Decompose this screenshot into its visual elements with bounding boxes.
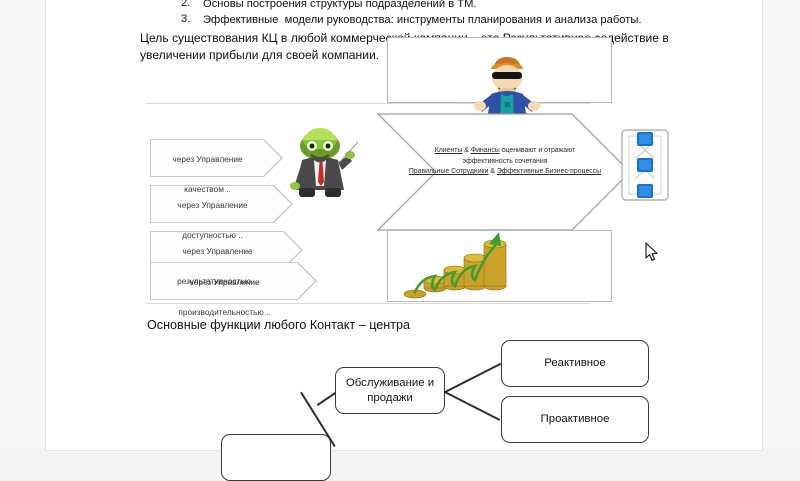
flow-box-line-1: Проактивное [541, 412, 610, 427]
section-heading: Основные функции любого Контакт – центра [147, 317, 410, 334]
list-item-2-text: Основы построения структуры подразделени… [203, 0, 477, 12]
page-gutter-right [762, 0, 800, 450]
tag-arrow-tip-fill [263, 140, 281, 176]
connector-from-left [317, 392, 336, 406]
caption-rest-1: оценивают и отражают [502, 147, 576, 154]
document-page: 2. Основы построения структуры подраздел… [46, 0, 762, 450]
flow-box-partial-bottom[interactable] [221, 434, 331, 481]
caption-finance: Финансы [471, 147, 500, 154]
flow-box-line-1: Реактивное [544, 356, 605, 371]
gold-coins-growth-chart [401, 228, 511, 302]
caption-line-2: эффективность сочетания [390, 157, 620, 168]
paragraph-line-2: увеличении прибыли для своей компании. [140, 47, 379, 64]
list-item-3-text: Эффективные модели руководства: инструме… [203, 13, 642, 28]
tag-availability-management[interactable]: через Управление доступностью .. [150, 185, 274, 223]
tag-quality-management[interactable]: через Управление качеством .. [150, 139, 264, 177]
connector-to-proactive [444, 391, 500, 421]
green-boss-character [286, 124, 358, 200]
connector-to-reactive [445, 363, 501, 393]
tag-line-1: через Управление [151, 193, 274, 212]
caption-right-people: Правильные Сотрудники [409, 168, 489, 175]
tag-line-2: производительностью .. [151, 300, 298, 319]
page-edge-right-line [762, 0, 763, 450]
flow-box-reactive[interactable]: Реактивное [501, 340, 649, 387]
caption-line-1: Клиенты & Финансы оценивают и отражают [390, 146, 620, 157]
center-caption: Клиенты & Финансы оценивают и отражают э… [390, 146, 620, 178]
tag-line-1: через Управление [151, 147, 264, 166]
mouse-pointer-icon [645, 242, 659, 262]
flow-box-line-2: продажи [367, 392, 413, 404]
list-item-2-number: 2. [181, 0, 190, 9]
list-item-3-number: 3. [181, 13, 190, 25]
caption-effective-processes: Эффективные Бизнес-процессы [497, 168, 601, 175]
flow-box-line-1: Обслуживание и [346, 377, 434, 389]
flow-box-proactive[interactable]: Проактивное [501, 396, 649, 443]
caption-amp-1: & [464, 147, 469, 154]
tag-line-1: через Управление [151, 270, 298, 289]
flow-box-service-sales[interactable]: Обслуживание и продажи [335, 367, 445, 414]
caption-line-3: Правильные Сотрудники & Эффективные Бизн… [390, 167, 620, 178]
page-gutter-left [0, 0, 46, 450]
tag-productivity-management[interactable]: через Управление производительностью .. [150, 262, 298, 300]
caption-clients: Клиенты [435, 147, 463, 154]
blue-network-nodes-device [618, 128, 672, 202]
tag-line-1: через Управление [151, 239, 284, 258]
tag-arrow-tip-fill [297, 263, 315, 299]
caption-amp-2: & [490, 168, 495, 175]
